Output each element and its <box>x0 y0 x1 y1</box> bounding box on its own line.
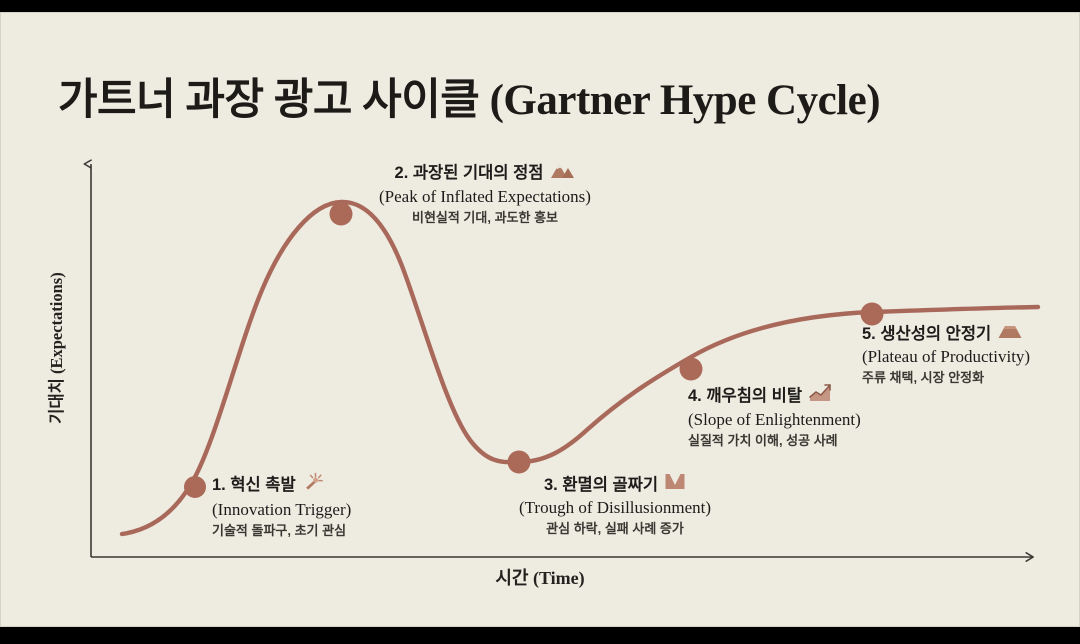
annotation-1-title-ko: 1. 혁신 촉발 <box>212 471 351 499</box>
annotation-4-title-ko: 4. 깨우침의 비탈 <box>688 383 861 409</box>
annotation-3-title-en: (Trough of Disillusionment) <box>495 497 735 520</box>
annotation-3-label: 3. 환멸의 골짜기 <box>544 474 658 496</box>
mountain-icon <box>549 160 575 186</box>
annotation-peak-of-inflated-expectations[interactable]: 2. 과장된 기대의 정점 (Peak of Inflated Expectat… <box>355 160 615 228</box>
annotation-4-label: 4. 깨우침의 비탈 <box>688 385 802 407</box>
data-point-marker-2[interactable] <box>330 203 353 226</box>
annotation-3-subtitle: 관심 하락, 실패 사례 증가 <box>495 520 735 539</box>
annotation-1-title-en: (Innovation Trigger) <box>212 499 351 522</box>
upward-chart-icon <box>808 383 832 409</box>
annotation-2-label: 2. 과장된 기대의 정점 <box>395 162 544 184</box>
annotation-3-title-ko: 3. 환멸의 골짜기 <box>495 472 735 497</box>
annotation-1-subtitle: 기술적 돌파구, 초기 관심 <box>212 522 351 541</box>
data-point-marker-3[interactable] <box>508 451 531 474</box>
annotation-2-title-ko: 2. 과장된 기대의 정점 <box>355 160 615 186</box>
slide-canvas: 가트너 과장 광고 사이클 (Gartner Hype Cycle) <box>0 12 1080 627</box>
annotation-5-title-en: (Plateau of Productivity) <box>862 346 1030 369</box>
annotation-1-label: 1. 혁신 촉발 <box>212 474 296 496</box>
annotation-plateau-of-productivity[interactable]: 5. 생산성의 안정기 (Plateau of Productivity) 주류… <box>862 322 1030 388</box>
data-point-marker-4[interactable] <box>680 358 703 381</box>
letterbox-bar-bottom <box>0 627 1080 644</box>
sparkle-icon <box>302 471 324 499</box>
annotation-innovation-trigger[interactable]: 1. 혁신 촉발 <box>212 471 351 541</box>
y-axis-label: 기대치 (Expectations) <box>43 253 67 443</box>
plateau-icon <box>997 322 1023 346</box>
annotation-4-subtitle: 실질적 가치 이해, 성공 사례 <box>688 432 861 451</box>
annotation-2-subtitle: 비현실적 기대, 과도한 홍보 <box>355 209 615 228</box>
valley-icon <box>664 472 686 497</box>
annotation-5-subtitle: 주류 채택, 시장 안정화 <box>862 369 1030 388</box>
annotation-slope-of-enlightenment[interactable]: 4. 깨우침의 비탈 (Slope of Enlightenment) 실질적 … <box>688 383 861 451</box>
letterbox-bar-top <box>0 0 1080 12</box>
x-axis-label: 시간 (Time) <box>440 564 640 590</box>
hype-cycle-chart: 기대치 (Expectations) 시간 (Time) 1. 혁신 촉발 <box>0 12 1080 627</box>
slide-screen: 가트너 과장 광고 사이클 (Gartner Hype Cycle) <box>0 0 1080 644</box>
annotation-trough-of-disillusionment[interactable]: 3. 환멸의 골짜기 (Trough of Disillusionment) 관… <box>495 472 735 539</box>
annotation-2-title-en: (Peak of Inflated Expectations) <box>355 186 615 209</box>
annotation-5-title-ko: 5. 생산성의 안정기 <box>862 322 1030 346</box>
annotation-4-title-en: (Slope of Enlightenment) <box>688 409 861 432</box>
annotation-5-label: 5. 생산성의 안정기 <box>862 323 991 345</box>
data-point-marker-1[interactable] <box>184 476 206 498</box>
